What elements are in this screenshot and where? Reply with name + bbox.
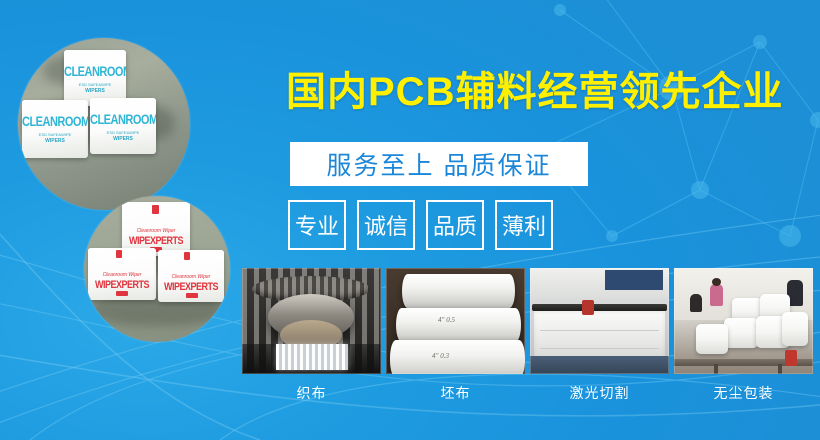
thumbnail-image-weaving-machine — [242, 268, 381, 374]
feature-tag-label: 薄利 — [502, 209, 546, 241]
thumbnail-caption: 织布 — [242, 383, 381, 403]
process-thumbnail-greige-fabric[interactable]: 4" 0.5 4" 0.3 坯布 — [386, 268, 525, 403]
feature-tag-label: 专业 — [295, 209, 339, 241]
wipe-pack: CLEANROOM ESD SAFE&WIPE WIPERS — [90, 98, 156, 154]
thumbnail-image-packing-room — [674, 268, 813, 374]
photo-backdrop: CLEANROOM ESD SAFE&WIPE WIPERS CLEANROOM… — [18, 38, 190, 210]
feature-tag-integrity[interactable]: 诚信 — [357, 200, 415, 250]
subtitle-bar: 服务至上 品质保证 — [290, 142, 588, 186]
feature-tag-low-margin[interactable]: 薄利 — [495, 200, 553, 250]
feature-tag-list: 专业 诚信 品质 薄利 — [288, 200, 553, 250]
wipe-pack: Cleanroom Wiper WIPEXPERTS — [158, 250, 224, 302]
photo-backdrop: Cleanroom Wiper WIPEXPERTS Cleanroom Wip… — [84, 196, 230, 342]
process-thumbnail-weaving[interactable]: 织布 — [242, 268, 381, 403]
banner-headline: 国内PCB辅料经营领先企业 — [286, 72, 783, 112]
thumbnail-caption: 激光切割 — [530, 383, 669, 403]
feature-tag-professional[interactable]: 专业 — [288, 200, 346, 250]
thumbnail-image-laser-cutter — [530, 268, 669, 374]
feature-tag-label: 诚信 — [364, 209, 408, 241]
process-thumbnail-strip: 织布 4" 0.5 4" 0.3 坯布 激光切 — [242, 268, 810, 403]
subtitle-text: 服务至上 品质保证 — [327, 146, 552, 182]
product-photo-wipexperts: Cleanroom Wiper WIPEXPERTS Cleanroom Wip… — [84, 196, 230, 342]
wipe-pack: Cleanroom Wiper WIPEXPERTS — [88, 248, 156, 300]
process-thumbnail-laser-cutting[interactable]: 激光切割 — [530, 268, 669, 403]
promotional-banner: CLEANROOM ESD SAFE&WIPE WIPERS CLEANROOM… — [0, 0, 820, 440]
wipe-pack: CLEANROOM ESD SAFE&WIPE WIPERS — [22, 100, 88, 158]
feature-tag-quality[interactable]: 品质 — [426, 200, 484, 250]
thumbnail-caption: 无尘包装 — [674, 383, 813, 403]
thumbnail-image-fabric-rolls: 4" 0.5 4" 0.3 — [386, 268, 525, 374]
feature-tag-label: 品质 — [433, 209, 477, 241]
process-thumbnail-cleanroom-packing[interactable]: 无尘包装 — [674, 268, 813, 403]
product-photo-cleanroom: CLEANROOM ESD SAFE&WIPE WIPERS CLEANROOM… — [18, 38, 190, 210]
thumbnail-caption: 坯布 — [386, 383, 525, 403]
